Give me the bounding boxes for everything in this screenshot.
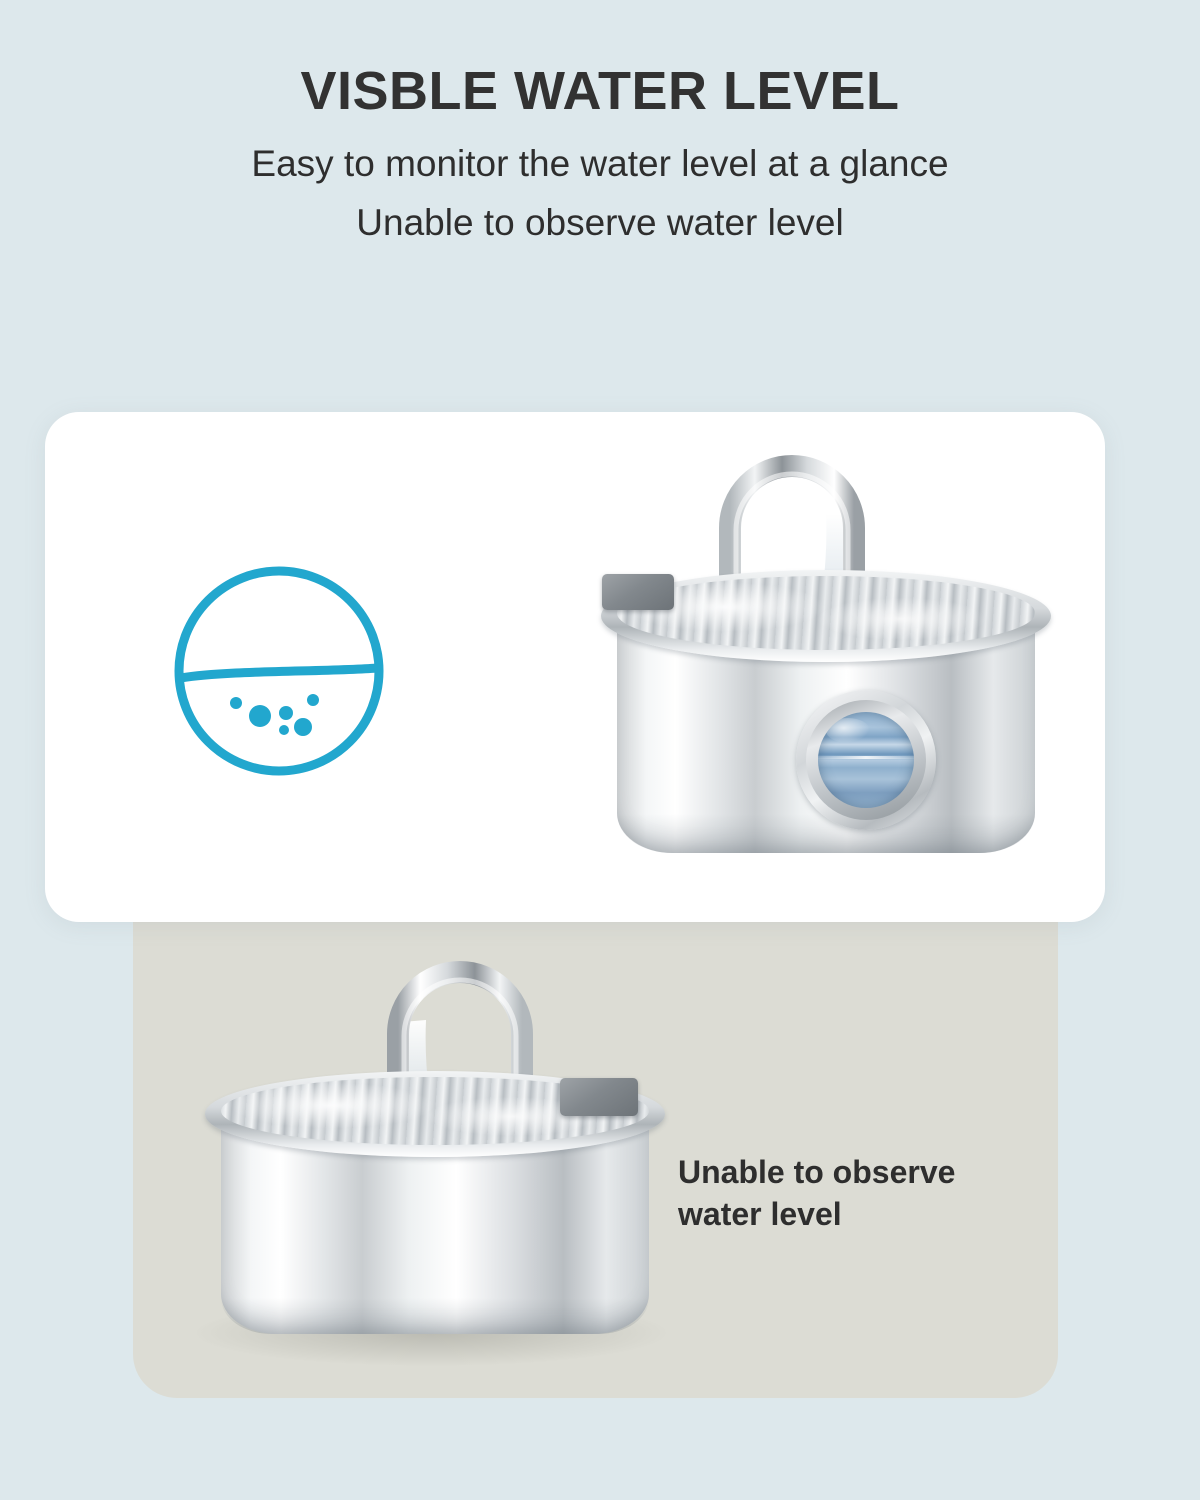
water-level-window bbox=[796, 690, 936, 830]
page-title: VISBLE WATER LEVEL bbox=[0, 62, 1200, 120]
fountain-water-surface bbox=[617, 576, 1036, 650]
fountain-pump-block bbox=[602, 574, 674, 610]
window-water-view bbox=[818, 712, 914, 808]
fountain-pump-block bbox=[560, 1078, 638, 1116]
product-fountain-with-window bbox=[596, 450, 1056, 870]
callout-unable-to-observe: Unable to observe water level bbox=[678, 1152, 1038, 1235]
window-bezel-ring bbox=[806, 700, 926, 820]
callout-line-1: Unable to observe bbox=[678, 1152, 1038, 1194]
water-level-circle-icon bbox=[168, 560, 390, 782]
callout-line-2: water level bbox=[678, 1194, 1038, 1236]
product-fountain-no-window bbox=[200, 960, 670, 1350]
subtitle-line-1: Easy to monitor the water level at a gla… bbox=[0, 136, 1200, 192]
subtitle-line-2: Unable to observe water level bbox=[0, 195, 1200, 251]
header: VISBLE WATER LEVEL Easy to monitor the w… bbox=[0, 0, 1200, 251]
